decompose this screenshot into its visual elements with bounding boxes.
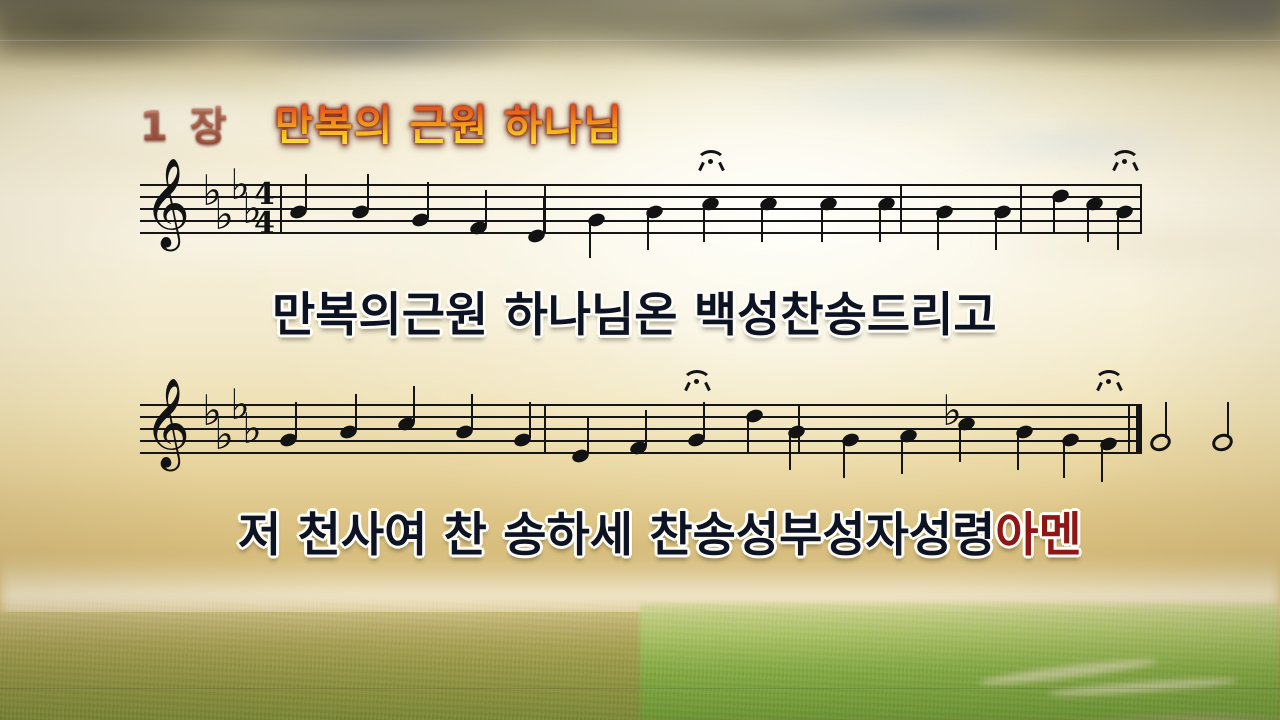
fermata-icon	[1110, 150, 1140, 166]
staff-line	[140, 220, 1140, 222]
staff-line	[140, 196, 1140, 198]
music-system-1: 𝄞♭♭♭♭44	[140, 176, 1140, 268]
note-stem	[413, 386, 415, 422]
staff-line	[140, 416, 1140, 418]
lyric-line-1-text: 만복의근원 하나님온 백성찬송드리고	[272, 288, 997, 343]
frame-seam-bottom	[0, 688, 1280, 689]
note-stem	[471, 394, 473, 430]
music-system-2: 𝄞♭♭♭♭♭	[140, 396, 1140, 488]
note-stem	[645, 410, 647, 446]
barline	[1020, 184, 1022, 234]
note-stem	[1087, 206, 1089, 242]
note-stem	[1053, 198, 1055, 234]
fermata-dot	[1106, 379, 1111, 384]
lyric-line-2-text: 저 천사여 찬 송하세 찬송성부성자성령	[238, 508, 995, 563]
note-stem	[1063, 442, 1065, 478]
treble-clef-icon: 𝄞	[144, 164, 190, 242]
time-signature: 44	[254, 180, 275, 239]
lyric-line-2-sung: 아멘	[995, 508, 1081, 563]
song-title: 만복의 근원 하나님	[275, 92, 623, 153]
frame-seam-top	[0, 40, 1280, 41]
fermata-dot	[708, 159, 713, 164]
staff-line	[140, 184, 1140, 186]
note-stem	[1017, 434, 1019, 470]
key-signature-flat: ♭	[242, 408, 262, 450]
note-stem	[295, 402, 297, 438]
barline	[900, 184, 902, 234]
staff-1: 𝄞♭♭♭♭44	[140, 176, 1140, 240]
note-stem	[1227, 402, 1229, 438]
note-stem	[761, 206, 763, 242]
lyric-line-2: 저 천사여 찬 송하세 찬송성부성자성령아멘	[238, 496, 1082, 565]
time-signature-denominator: 4	[254, 209, 275, 238]
note-stem	[589, 222, 591, 258]
note-stem	[959, 426, 961, 462]
title-row: 1 장 만복의 근원 하나님	[140, 92, 623, 153]
hymn-karaoke-screen: 1 장 만복의 근원 하나님 𝄞♭♭♭♭44 𝄞♭♭♭♭♭ 만복의근원 하나님온…	[0, 0, 1280, 720]
note-stem	[879, 206, 881, 242]
note-stem	[305, 174, 307, 210]
note-stem	[901, 438, 903, 474]
note-stem	[747, 418, 749, 454]
note-stem	[703, 206, 705, 242]
time-signature-numerator: 4	[254, 180, 275, 209]
note-stem	[1165, 402, 1167, 438]
note-stem	[1117, 214, 1119, 250]
note-stem	[647, 214, 649, 250]
fermata-dot	[1122, 159, 1127, 164]
note-stem	[937, 214, 939, 250]
lyric-line-1: 만복의근원 하나님온 백성찬송드리고	[272, 276, 997, 345]
barline	[1136, 404, 1142, 454]
note-stem	[789, 434, 791, 470]
barline	[1128, 404, 1130, 454]
staff-line	[140, 232, 1140, 234]
note-stem	[703, 402, 705, 438]
staff-2: 𝄞♭♭♭♭♭	[140, 396, 1140, 460]
staff-line	[140, 404, 1140, 406]
fermata-icon	[696, 150, 726, 166]
fermata-icon	[682, 370, 712, 386]
note-stem	[485, 190, 487, 226]
note-stem	[995, 214, 997, 250]
note-stem	[355, 394, 357, 430]
barline	[544, 404, 546, 454]
fermata-icon	[1094, 370, 1124, 386]
note-stem	[587, 418, 589, 454]
note-stem	[367, 174, 369, 210]
fermata-dot	[694, 379, 699, 384]
treble-clef-icon: 𝄞	[144, 384, 190, 462]
note-stem	[1101, 446, 1103, 482]
barline	[1140, 184, 1142, 234]
note-stem	[843, 442, 845, 478]
barline	[280, 184, 282, 234]
note-stem	[821, 206, 823, 242]
chapter-number: 1 장	[140, 94, 231, 152]
note-stem	[529, 402, 531, 438]
note-stem	[427, 182, 429, 218]
staff-line	[140, 428, 1140, 430]
note-stem	[543, 198, 545, 234]
